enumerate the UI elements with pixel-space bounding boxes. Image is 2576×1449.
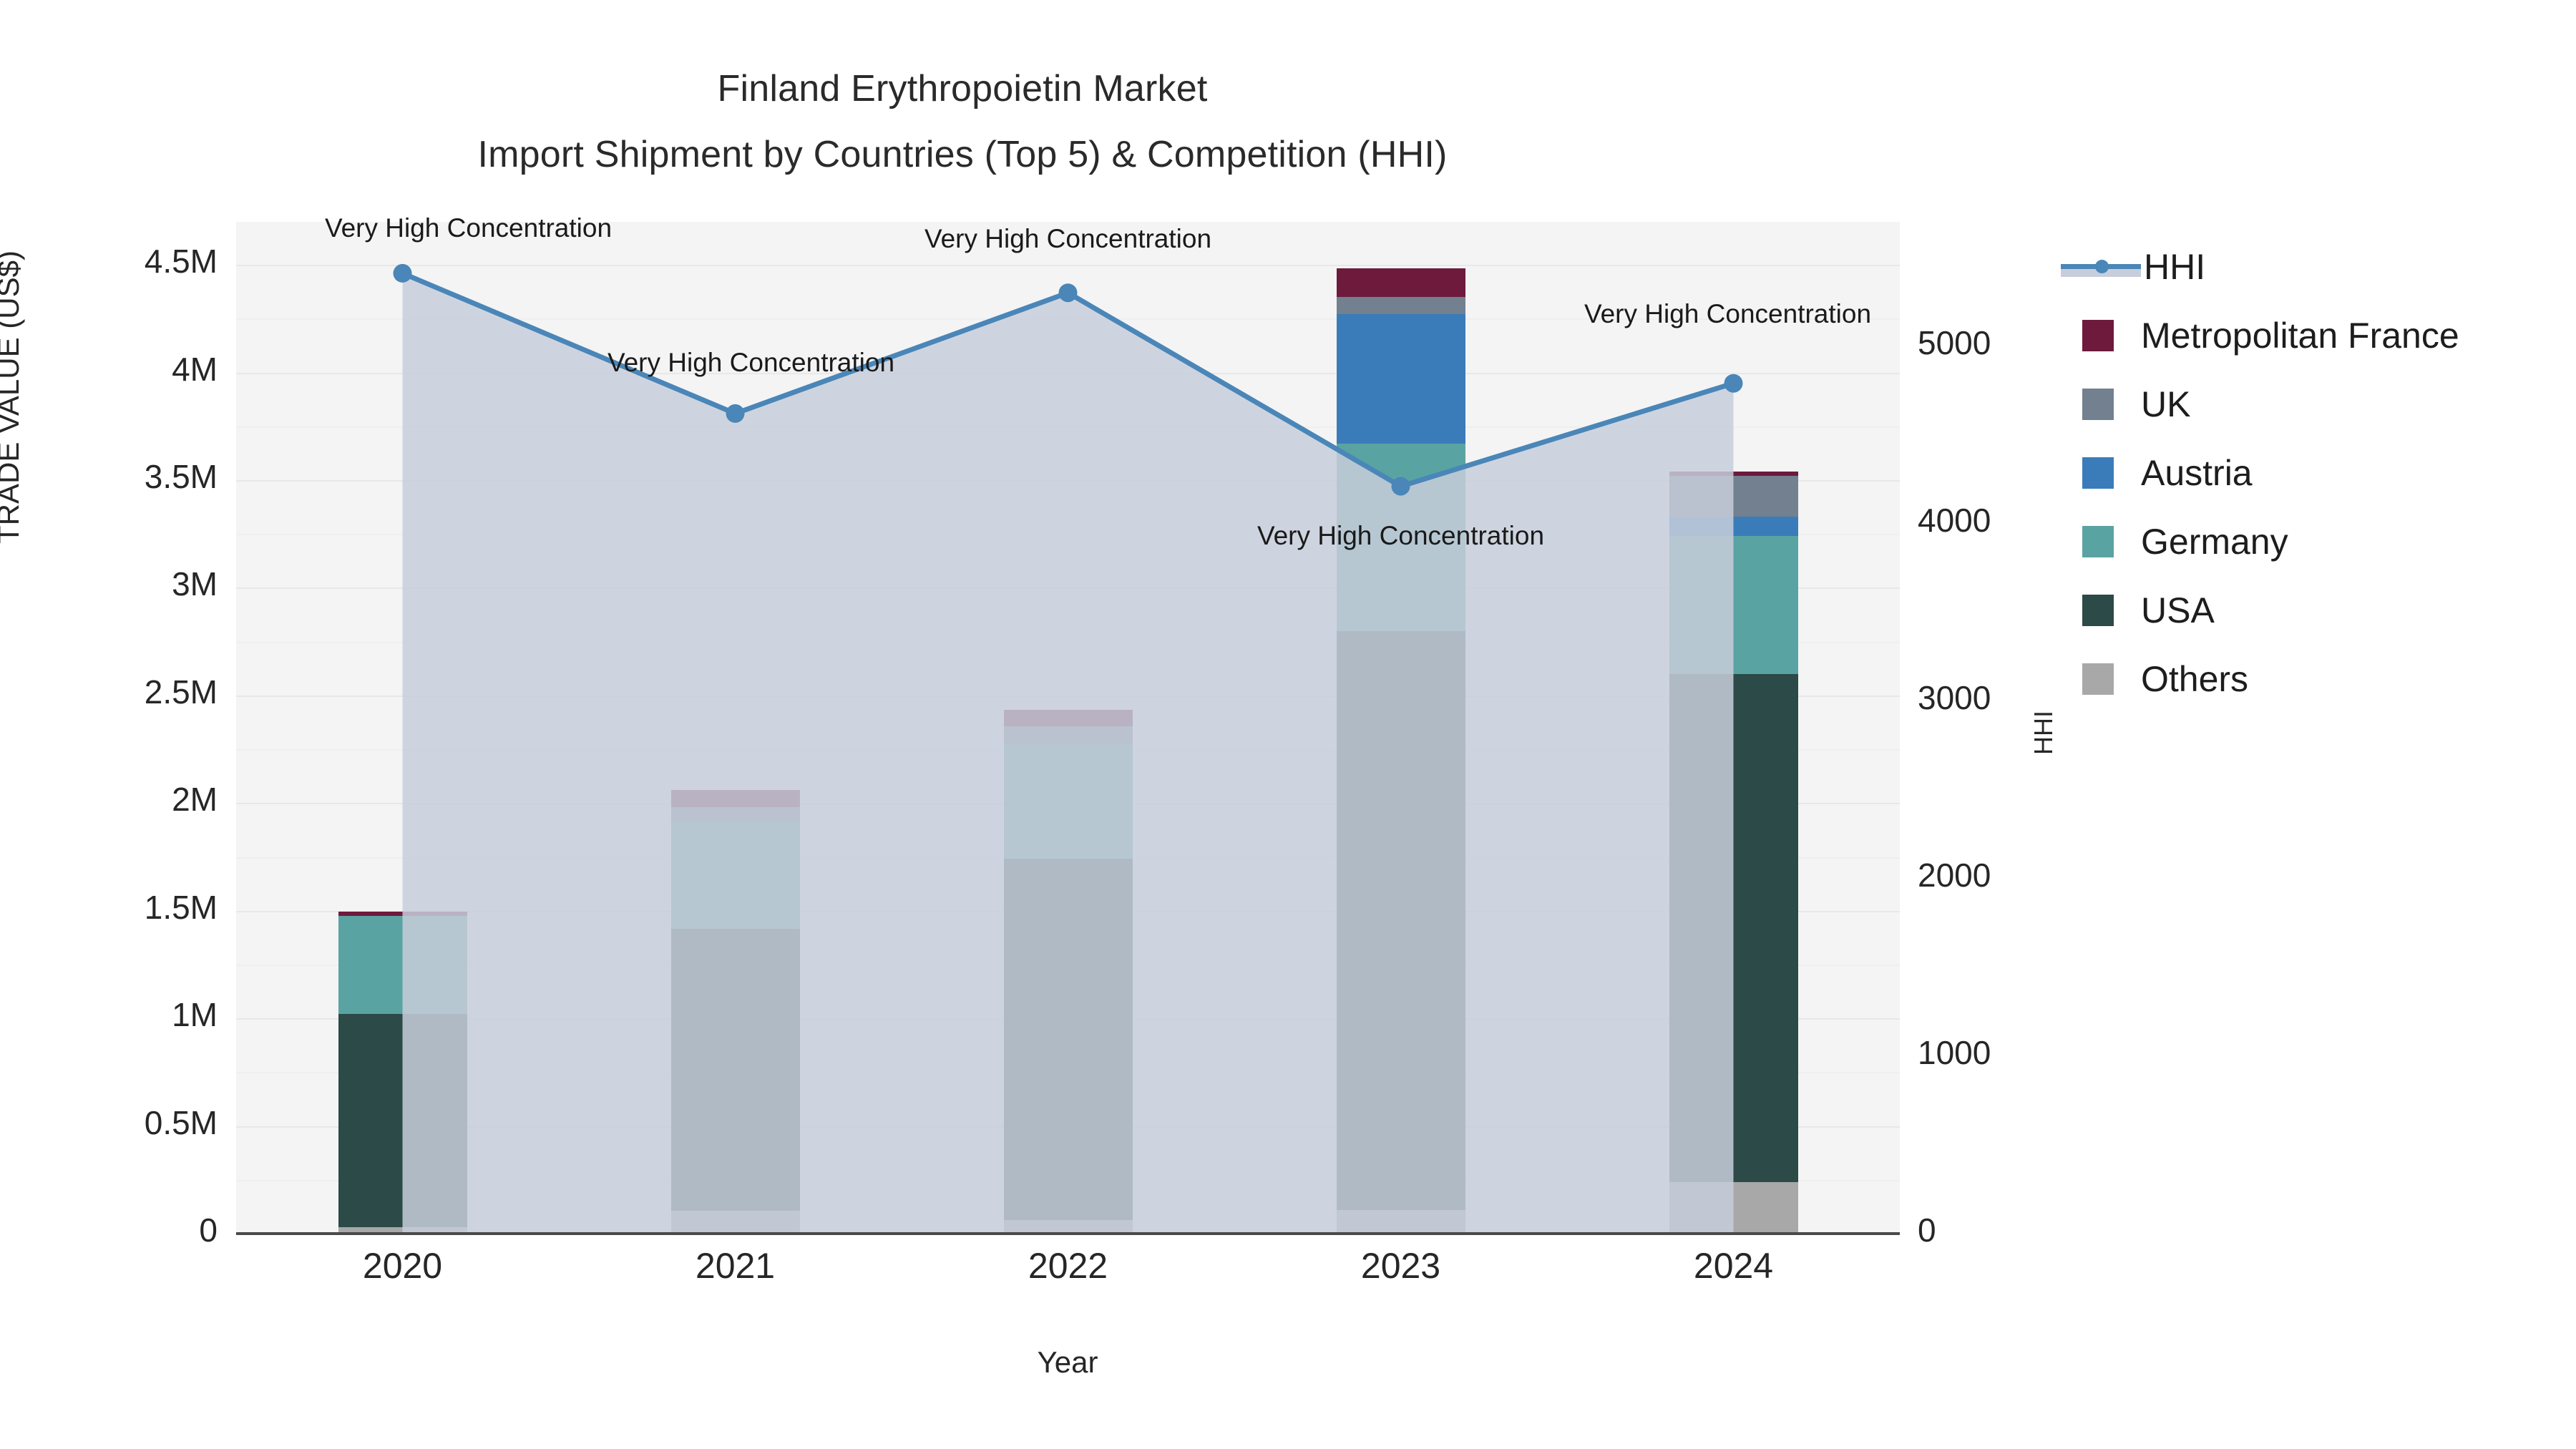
legend-item-uk[interactable]: UK [2061, 370, 2562, 439]
annotation-2021: Very High Concentration [608, 348, 894, 378]
x-axis-title: Year [1038, 1345, 1098, 1380]
chart-canvas: Finland Erythropoietin Market Import Shi… [0, 0, 2576, 1449]
legend-item-metropolitan-france[interactable]: Metropolitan France [2061, 301, 2562, 370]
legend-item-usa[interactable]: USA [2061, 576, 2562, 645]
y-left-tick-4.5M: 4.5M [145, 242, 218, 280]
y-axis-right-title: HHI [2029, 711, 2059, 755]
bar-segment-usa[interactable] [1337, 631, 1465, 1210]
legend-label: HHI [2144, 246, 2205, 288]
legend-label: Others [2141, 658, 2248, 700]
annotation-2023: Very High Concentration [1257, 521, 1544, 551]
bar-group-2022[interactable] [1004, 222, 1133, 1234]
bar-segment-uk[interactable] [671, 807, 800, 821]
bar-segment-austria[interactable] [1337, 314, 1465, 444]
y-right-tick-5000: 5000 [1918, 323, 1991, 362]
bar-segment-germany[interactable] [671, 821, 800, 929]
y-left-tick-2M: 2M [172, 780, 218, 819]
legend-label: Germany [2141, 521, 2288, 562]
legend-label: USA [2141, 590, 2215, 631]
legend-swatch-icon [2082, 663, 2114, 695]
bar-group-2023[interactable] [1337, 222, 1465, 1234]
chart-legend: HHIMetropolitan FranceUKAustriaGermanyUS… [2061, 233, 2562, 713]
x-tick-2024: 2024 [1694, 1245, 1773, 1287]
x-tick-2021: 2021 [696, 1245, 775, 1287]
y-left-tick-1.5M: 1.5M [145, 888, 218, 927]
bar-segment-uk[interactable] [1337, 297, 1465, 314]
bar-segment-metropolitan-france[interactable] [1337, 268, 1465, 298]
x-tick-2022: 2022 [1028, 1245, 1108, 1287]
y-right-tick-3000: 3000 [1918, 678, 1991, 717]
x-tick-2020: 2020 [363, 1245, 442, 1287]
x-tick-2023: 2023 [1361, 1245, 1440, 1287]
legend-item-germany[interactable]: Germany [2061, 507, 2562, 576]
bar-segment-germany[interactable] [338, 916, 467, 1014]
y-left-tick-0.5M: 0.5M [145, 1103, 218, 1142]
legend-swatch-icon [2082, 389, 2114, 420]
annotation-2024: Very High Concentration [1584, 299, 1871, 329]
legend-label: Metropolitan France [2141, 315, 2459, 356]
legend-label: UK [2141, 384, 2190, 425]
y-left-tick-0: 0 [199, 1211, 218, 1249]
bar-segment-metropolitan-france[interactable] [1004, 710, 1133, 726]
y-left-tick-4M: 4M [172, 350, 218, 389]
bar-segment-usa[interactable] [1669, 674, 1798, 1182]
title-line-1: Finland Erythropoietin Market [0, 56, 1925, 122]
annotation-2020: Very High Concentration [325, 213, 612, 243]
bar-segment-usa[interactable] [338, 1014, 467, 1227]
x-axis-line [236, 1232, 1900, 1235]
bar-segment-metropolitan-france[interactable] [338, 912, 467, 916]
bar-segment-uk[interactable] [1004, 726, 1133, 745]
y-left-tick-3.5M: 3.5M [145, 457, 218, 496]
bar-segment-others[interactable] [1669, 1182, 1798, 1234]
y-right-tick-2000: 2000 [1918, 856, 1991, 894]
legend-item-austria[interactable]: Austria [2061, 439, 2562, 507]
y-right-tick-4000: 4000 [1918, 501, 1991, 540]
bar-group-2024[interactable] [1669, 222, 1798, 1234]
y-left-tick-3M: 3M [172, 565, 218, 603]
legend-label: Austria [2141, 452, 2253, 494]
y-axis-left-title: TRADE VALUE (US$) [0, 250, 26, 544]
bar-segment-metropolitan-france[interactable] [1669, 472, 1798, 476]
bar-segment-usa[interactable] [1004, 859, 1133, 1220]
bar-segment-austria[interactable] [1669, 517, 1798, 536]
y-left-tick-1M: 1M [172, 995, 218, 1034]
legend-line-marker-icon [2061, 251, 2141, 283]
y-right-tick-0: 0 [1918, 1211, 1936, 1249]
legend-swatch-icon [2082, 457, 2114, 489]
bar-segment-germany[interactable] [1004, 744, 1133, 858]
bar-segment-uk[interactable] [1669, 476, 1798, 517]
title-line-2: Import Shipment by Countries (Top 5) & C… [0, 122, 1925, 187]
plot-area [236, 222, 1900, 1234]
chart-title: Finland Erythropoietin Market Import Shi… [0, 56, 1925, 187]
bar-segment-metropolitan-france[interactable] [671, 790, 800, 807]
legend-swatch-icon [2082, 595, 2114, 626]
bar-segment-usa[interactable] [671, 929, 800, 1211]
legend-swatch-icon [2082, 526, 2114, 557]
legend-item-others[interactable]: Others [2061, 645, 2562, 713]
bar-segment-others[interactable] [671, 1211, 800, 1234]
y-left-tick-2.5M: 2.5M [145, 673, 218, 711]
legend-swatch-icon [2082, 320, 2114, 351]
bar-segment-germany[interactable] [1669, 536, 1798, 674]
bar-segment-others[interactable] [1337, 1210, 1465, 1234]
y-right-tick-1000: 1000 [1918, 1033, 1991, 1072]
annotation-2022: Very High Concentration [924, 224, 1211, 254]
bar-group-2020[interactable] [338, 222, 467, 1234]
legend-item-hhi[interactable]: HHI [2061, 233, 2562, 301]
